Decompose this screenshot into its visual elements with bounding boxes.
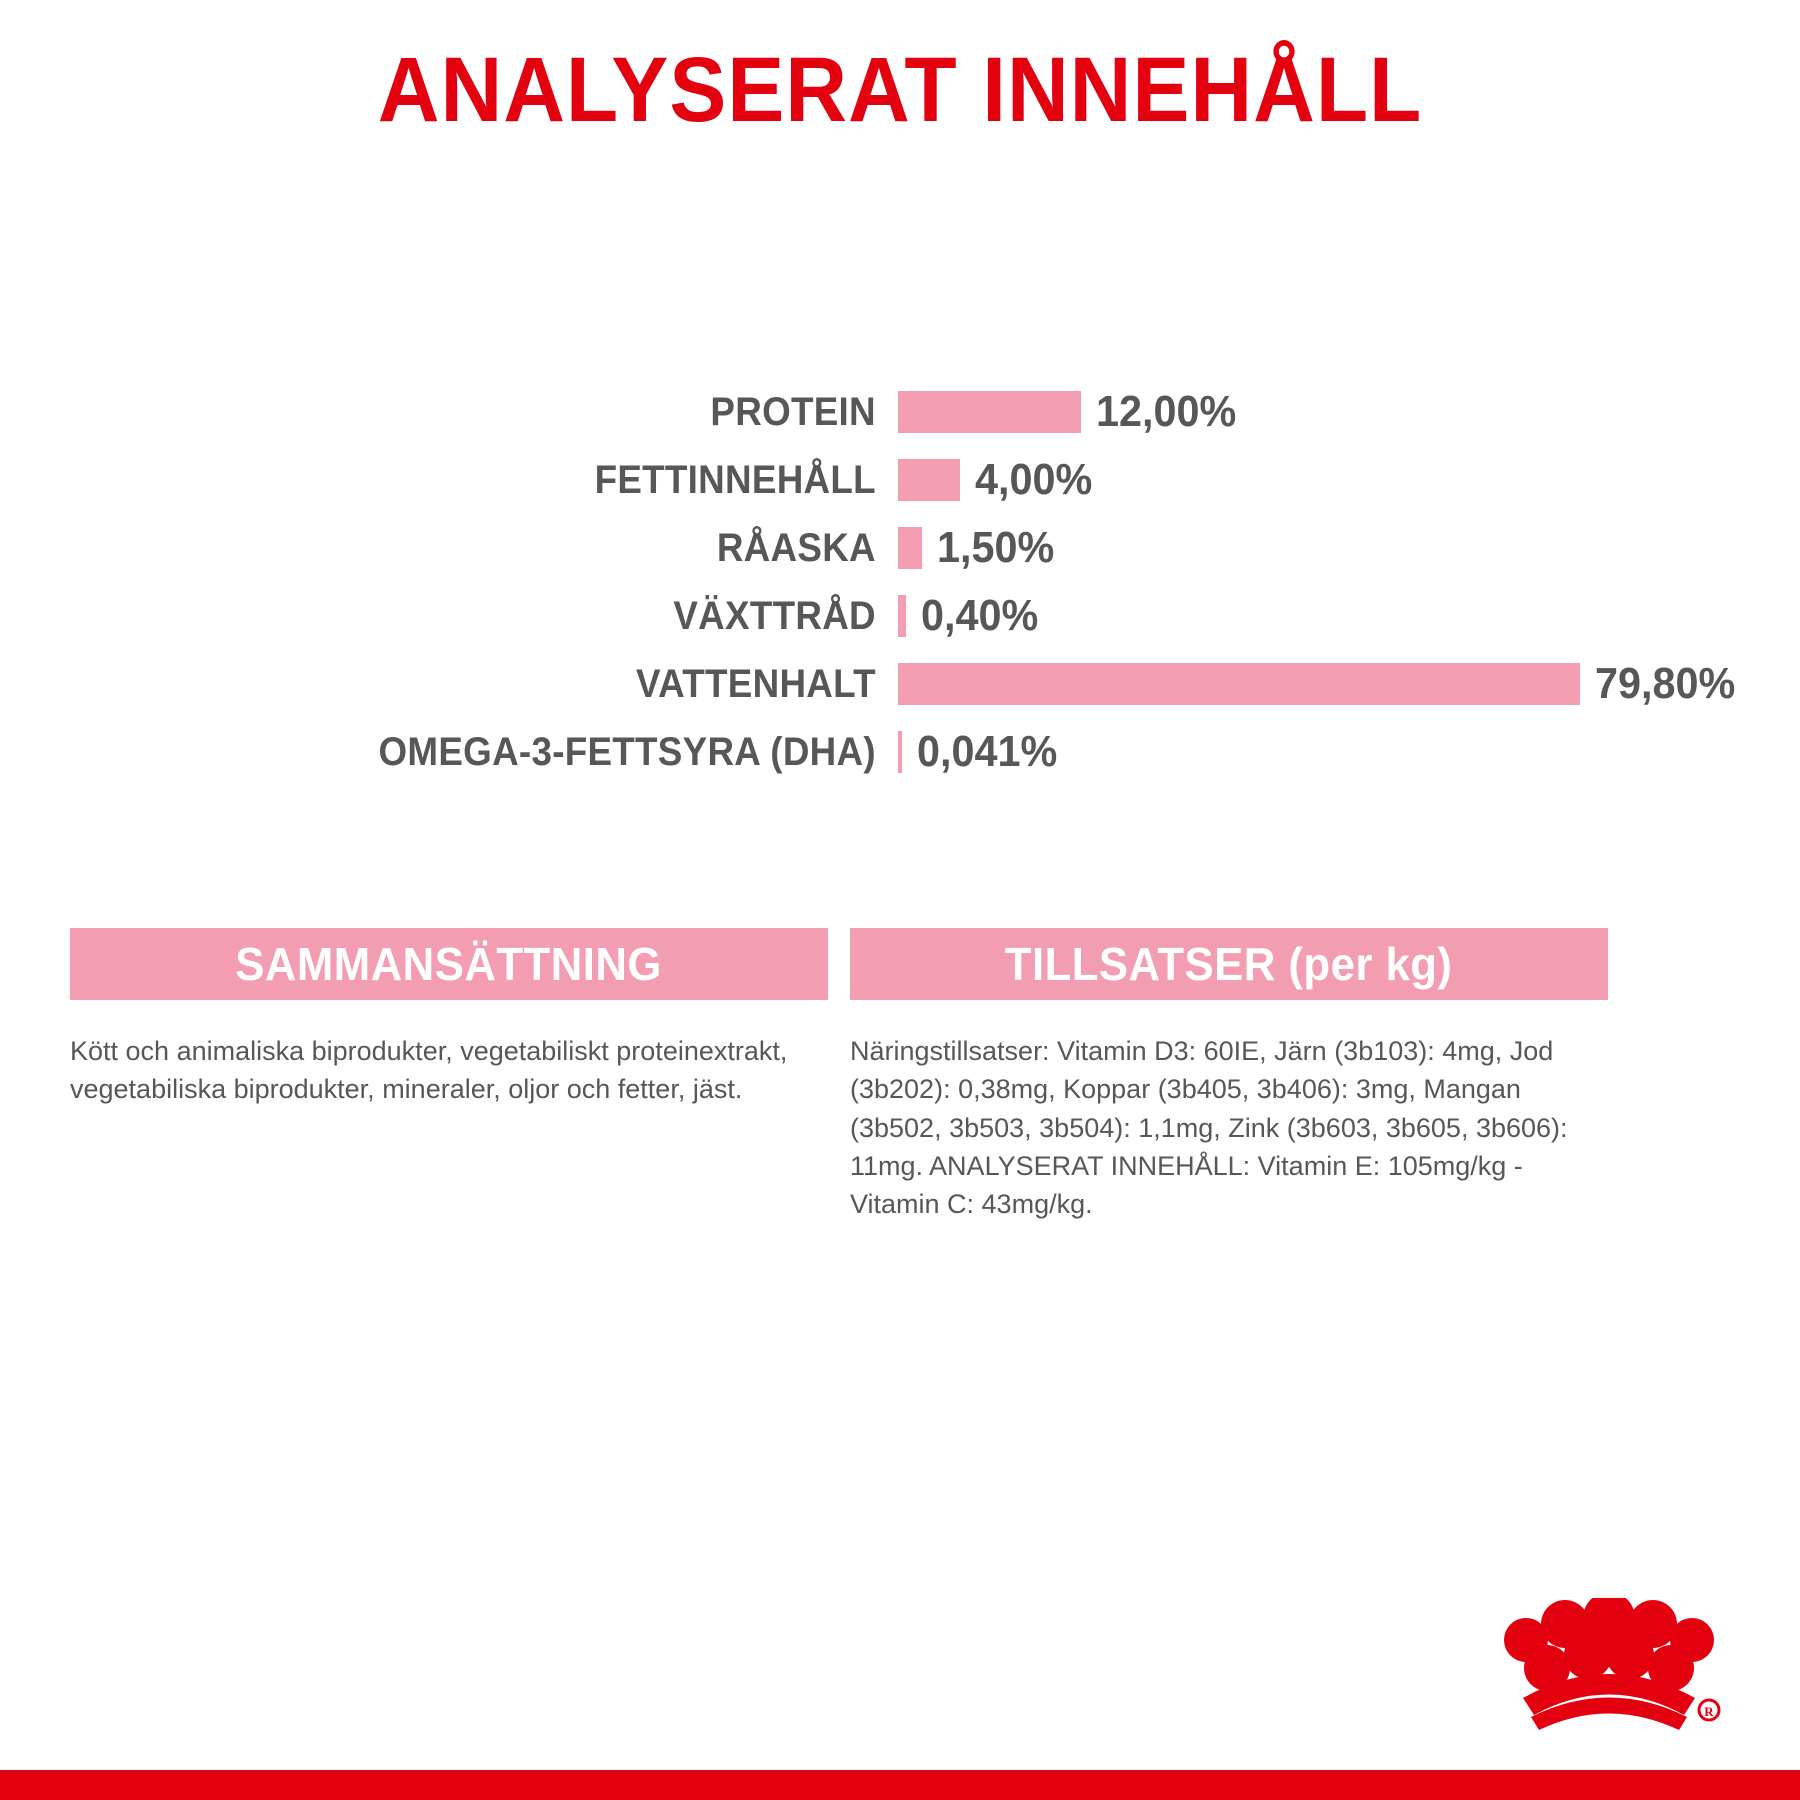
info-panels: SAMMANSÄTTNING Kött och animaliska bipro… [0, 928, 1800, 1224]
analysis-row-label: VATTENHALT [72, 662, 898, 707]
analysis-row-value: 79,80% [1580, 659, 1735, 709]
nutrition-fact-sheet: ANALYSERAT INNEHÅLL PROTEIN12,00%FETTINN… [0, 0, 1800, 1800]
composition-panel: SAMMANSÄTTNING Kött och animaliska bipro… [70, 928, 828, 1224]
registered-mark: R [1704, 1704, 1714, 1719]
analysis-row: VÄXTTRÅD0,40% [0, 582, 1800, 650]
additives-header-label: TILLSATSER (per kg) [1005, 937, 1453, 991]
additives-header: TILLSATSER (per kg) [850, 928, 1608, 1000]
analysis-row-value: 0,40% [906, 591, 1038, 641]
page-title: ANALYSERAT INNEHÅLL [63, 42, 1737, 139]
analysis-row-label: FETTINNEHÅLL [72, 458, 898, 503]
analysis-row-bar [898, 527, 922, 569]
analysis-row-bar [898, 663, 1580, 705]
analysis-row-label: RÅASKA [72, 526, 898, 571]
analysis-row: OMEGA-3-FETTSYRA (DHA)0,041% [0, 718, 1800, 786]
analysis-row-label: OMEGA-3-FETTSYRA (DHA) [72, 730, 898, 775]
bottom-red-bar [0, 1770, 1800, 1800]
analysis-row-value: 12,00% [1081, 387, 1236, 437]
analysis-row-bar [898, 459, 960, 501]
analysis-row-bar [898, 595, 906, 637]
analysis-row-bar [898, 391, 1081, 433]
additives-body-text: Näringstillsatser: Vitamin D3: 60IE, Jär… [850, 1000, 1608, 1224]
analysis-row-value: 4,00% [960, 455, 1092, 505]
analysis-row: PROTEIN12,00% [0, 378, 1800, 446]
analysis-row-label: PROTEIN [72, 390, 898, 435]
analysis-chart: PROTEIN12,00%FETTINNEHÅLL4,00%RÅASKA1,50… [0, 378, 1800, 786]
composition-header: SAMMANSÄTTNING [70, 928, 828, 1000]
analysis-row-label: VÄXTTRÅD [72, 594, 898, 639]
analysis-row-value: 0,041% [902, 727, 1057, 777]
composition-header-label: SAMMANSÄTTNING [236, 937, 663, 991]
composition-body-text: Kött och animaliska biprodukter, vegetab… [70, 1000, 828, 1109]
analysis-row: RÅASKA1,50% [0, 514, 1800, 582]
analysis-row-value: 1,50% [922, 523, 1054, 573]
analysis-row: FETTINNEHÅLL4,00% [0, 446, 1800, 514]
analysis-row: VATTENHALT79,80% [0, 650, 1800, 718]
additives-panel: TILLSATSER (per kg) Näringstillsatser: V… [850, 928, 1608, 1224]
royal-canin-crown-logo: R [1485, 1598, 1735, 1738]
